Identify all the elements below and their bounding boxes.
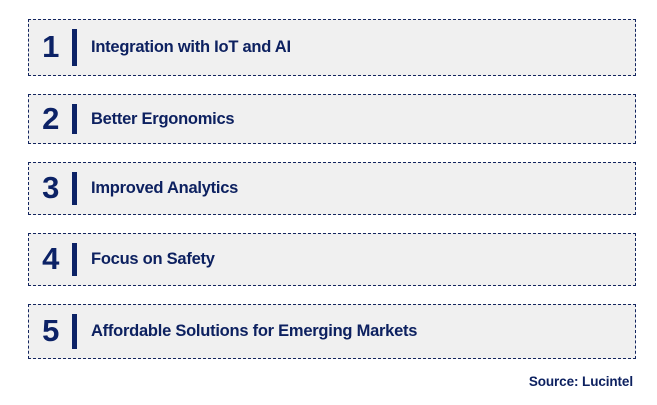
trend-row[interactable]: 1 Integration with IoT and AI xyxy=(28,19,636,76)
trend-rank-number: 5 xyxy=(29,315,72,348)
trend-label: Focus on Safety xyxy=(77,250,635,269)
trend-row[interactable]: 3 Improved Analytics xyxy=(28,162,636,215)
trend-row[interactable]: 4 Focus on Safety xyxy=(28,233,636,286)
source-attribution: Source: Lucintel xyxy=(529,374,633,389)
trend-row[interactable]: 5 Affordable Solutions for Emerging Mark… xyxy=(28,304,636,359)
trend-label: Better Ergonomics xyxy=(77,110,635,129)
trend-rank-number: 1 xyxy=(29,31,72,64)
trend-rank-number: 4 xyxy=(29,243,72,276)
trend-rank-number: 3 xyxy=(29,172,72,205)
trend-label: Improved Analytics xyxy=(77,179,635,198)
diagram-canvas: 1 Integration with IoT and AI 2 Better E… xyxy=(0,0,657,405)
ranked-trend-list: 1 Integration with IoT and AI 2 Better E… xyxy=(28,19,636,377)
trend-row[interactable]: 2 Better Ergonomics xyxy=(28,94,636,144)
trend-label: Affordable Solutions for Emerging Market… xyxy=(77,322,635,341)
trend-rank-number: 2 xyxy=(29,103,72,136)
trend-label: Integration with IoT and AI xyxy=(77,38,635,57)
